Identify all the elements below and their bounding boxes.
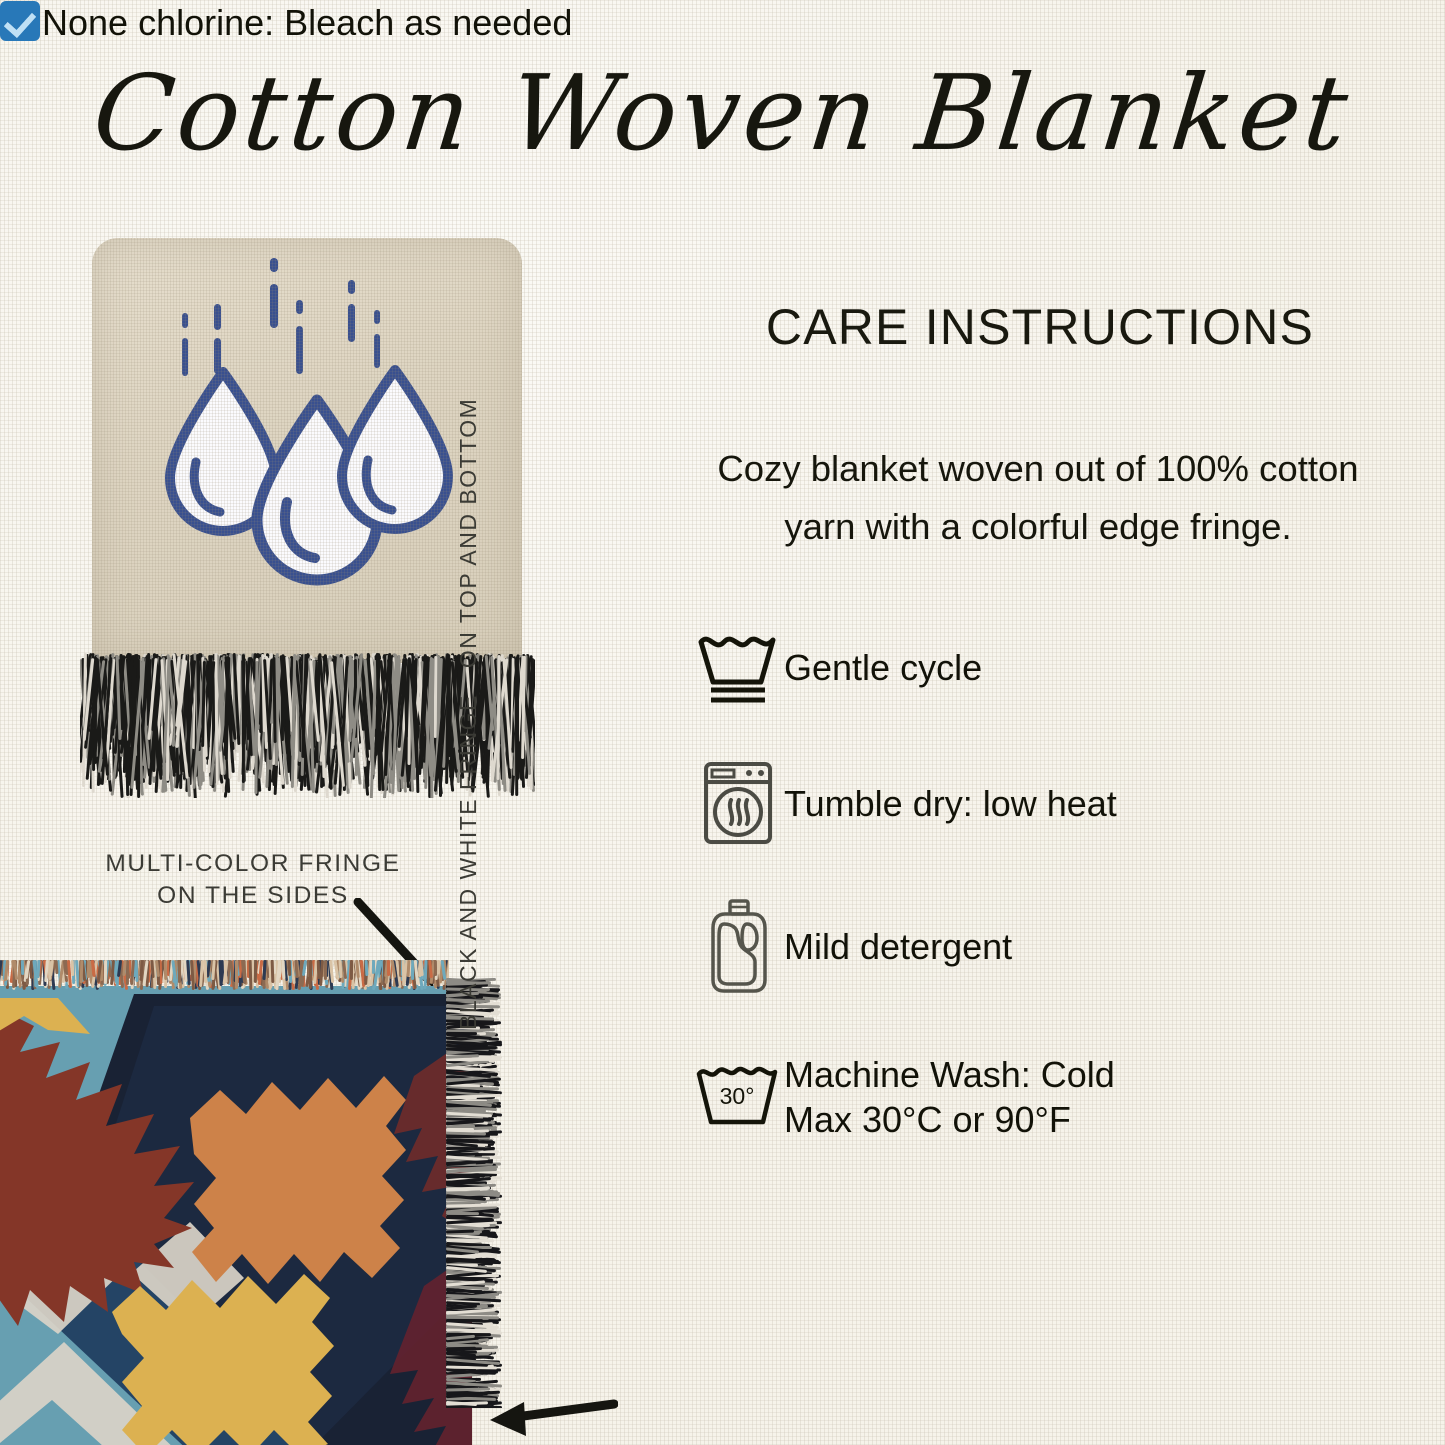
page-title: Cotton Woven Blanket <box>0 52 1445 174</box>
black-white-fringe-side <box>446 978 504 1408</box>
care-item-tumble-dry: Tumble dry: low heat <box>692 760 1117 846</box>
care-instructions-infographic: Cotton Woven Blanket <box>0 0 1445 1445</box>
care-instructions-heading: CARE INSTRUCTIONS <box>640 298 1440 356</box>
care-item-label: Mild detergent <box>784 924 1012 969</box>
arrow-to-bottom-fringe <box>468 1382 618 1445</box>
detergent-bottle-icon <box>692 898 784 994</box>
rain-dash <box>182 338 188 376</box>
blanket-photo-aztec <box>0 960 514 1445</box>
aztec-pattern <box>0 986 472 1445</box>
rain-dash <box>182 313 188 328</box>
multicolor-fringe-top <box>0 960 449 990</box>
tumble-dryer-icon <box>692 760 784 846</box>
caption-line: MULTI-COLOR FRINGE <box>78 848 428 880</box>
rain-dash <box>270 258 278 272</box>
care-item-label: Gentle cycle <box>784 645 982 690</box>
wash-basin-gentle-icon <box>692 628 784 706</box>
caption-line: BLACK AND WHITE FRINGE <box>455 694 482 1030</box>
water-drop-icon <box>324 360 466 542</box>
care-item-none-chlorine: None chlorine: Bleach as needed <box>0 0 650 45</box>
rain-dash <box>296 300 303 314</box>
description-line: Cozy blanket woven out of 100% cotton <box>638 440 1438 498</box>
rain-dash <box>374 334 380 368</box>
care-item-machine-wash-cold: 30° Machine Wash: ColdMax 30°C or 90°F <box>692 1052 1115 1142</box>
care-item-gentle-cycle: Gentle cycle <box>692 628 982 706</box>
rain-dash <box>348 280 355 294</box>
caption-black-white-fringe: BLACK AND WHITE FRINGE ON TOP AND BOTTOM <box>455 650 545 1030</box>
basin-temp-text: 30° <box>720 1083 755 1109</box>
care-item-mild-detergent: Mild detergent <box>692 898 1012 994</box>
care-item-label: None chlorine: Bleach as needed <box>42 2 572 43</box>
caption-line: ON TOP AND BOTTOM <box>455 398 482 668</box>
rain-dash <box>348 304 355 342</box>
rain-dash <box>214 338 221 374</box>
rain-dash <box>296 326 303 374</box>
rain-dash <box>270 284 278 328</box>
wash-basin-30-icon: 30° <box>692 1062 784 1132</box>
rain-dash <box>374 310 380 324</box>
water-drop-icon <box>152 362 294 544</box>
care-item-label: Machine Wash: ColdMax 30°C or 90°F <box>784 1052 1115 1142</box>
care-item-label: Tumble dry: low heat <box>784 781 1117 826</box>
description-line: yarn with a colorful edge fringe. <box>638 498 1438 556</box>
checked-checkbox-icon <box>0 1 40 41</box>
product-description: Cozy blanket woven out of 100% cotton ya… <box>638 440 1438 557</box>
water-drop-icon <box>237 390 397 595</box>
rain-dash <box>214 304 221 330</box>
machine-wash-line2: Max 30°C or 90°F <box>784 1099 1071 1140</box>
machine-wash-line1: Machine Wash: Cold <box>784 1054 1115 1095</box>
